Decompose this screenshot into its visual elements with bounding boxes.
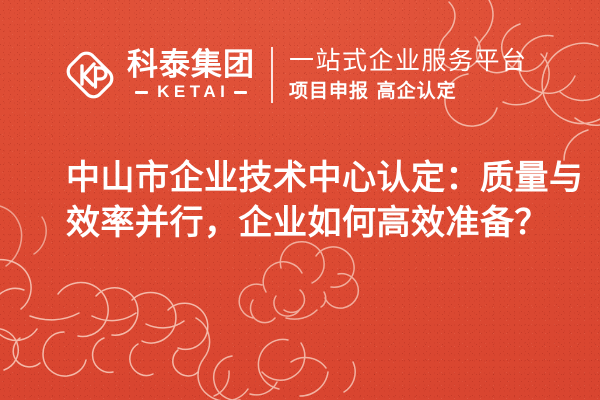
brand-name-cn: 科泰集团 [127,49,255,82]
tagline-sub: 项目申报 高企认定 [289,78,528,104]
ketai-diamond-monogram-icon [62,47,118,103]
headline-block: 中山市企业技术中心认定：质量与 效率并行，企业如何高效准备？ [66,156,546,246]
tagline-block: 一站式企业服务平台 项目申报 高企认定 [289,46,528,104]
dash-left-icon [135,91,148,94]
header-divider [271,47,273,103]
brand-logo[interactable]: 科泰集团 KETAI [62,47,255,103]
brand-name-en: KETAI [153,83,230,101]
dash-right-icon [234,91,247,94]
headline-line-1: 中山市企业技术中心认定：质量与 [66,156,546,201]
tagline-main: 一站式企业服务平台 [289,46,528,76]
brand-name-en-row: KETAI [127,83,255,101]
promo-banner: 科泰集团 KETAI 一站式企业服务平台 项目申报 高企认定 中山市企业技术中心… [0,0,600,400]
banner-header: 科泰集团 KETAI 一站式企业服务平台 项目申报 高企认定 [0,36,600,114]
headline-line-2: 效率并行，企业如何高效准备？ [66,201,546,246]
brand-wordmark: 科泰集团 KETAI [127,49,255,101]
